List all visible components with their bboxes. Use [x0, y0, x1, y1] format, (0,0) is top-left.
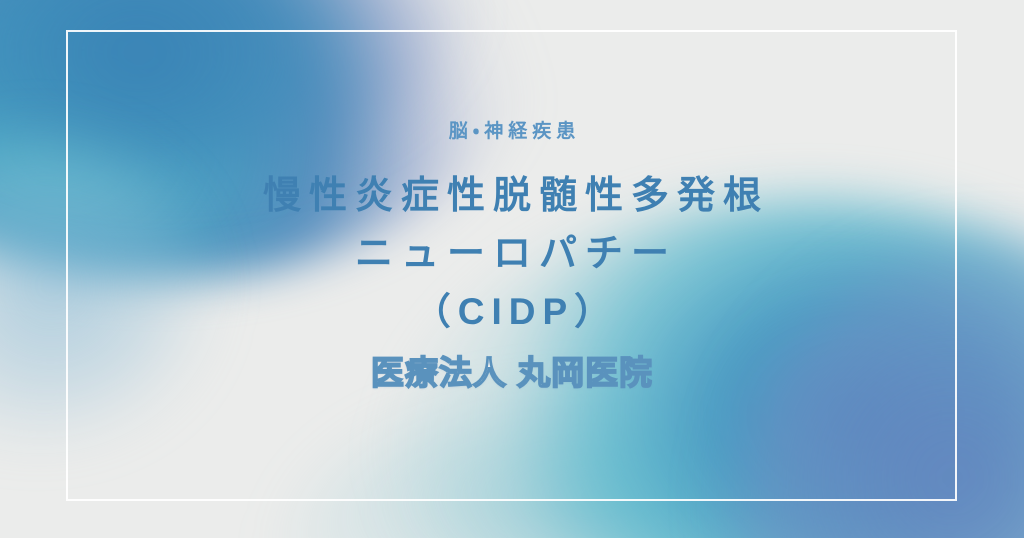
page-title: 慢性炎症性脱髄性多発根 ニューロパチー （CIDP） [255, 167, 769, 341]
hero-content: 脳・神経疾患 慢性炎症性脱髄性多発根 ニューロパチー （CIDP） 医療法人 丸… [0, 0, 1024, 538]
hero-banner: 脳・神経疾患 慢性炎症性脱髄性多発根 ニューロパチー （CIDP） 医療法人 丸… [0, 0, 1024, 538]
clinic-name: 医療法人 丸岡医院 [371, 353, 653, 393]
page-title-abbreviation: （CIDP） [255, 283, 769, 341]
page-title-line-1: 慢性炎症性脱髄性多発根 [255, 167, 769, 225]
category-eyebrow: 脳・神経疾患 [444, 122, 580, 141]
page-title-line-2: ニューロパチー [255, 225, 769, 283]
